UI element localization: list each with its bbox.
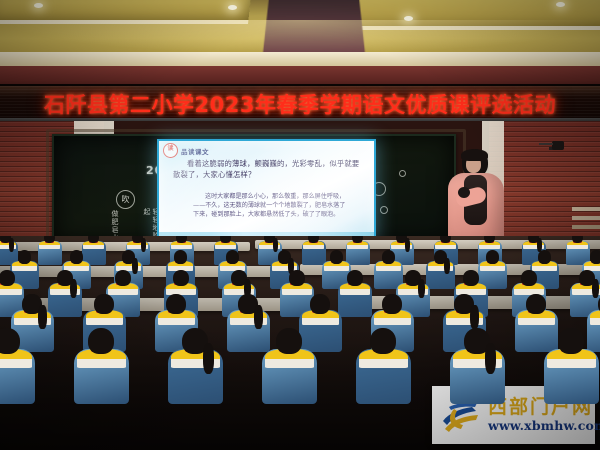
teacher-hair: [461, 149, 488, 161]
student-head: [590, 250, 600, 264]
student-figure: [262, 328, 327, 424]
student-head: [226, 250, 239, 264]
ceiling-light: [228, 5, 237, 10]
student-head: [289, 270, 305, 286]
ceiling-light: [34, 3, 43, 8]
projection-screen: 读 品读课文 看着这脆弱的薄球，颤巍巍的，光彩零乱，似乎就要散裂了，大家心懂怎样…: [157, 139, 376, 241]
student-figure: [74, 328, 139, 424]
student-audience: [0, 236, 600, 450]
student-ponytail: [38, 305, 46, 329]
student-figure: [0, 328, 45, 424]
screenshot-root: 石阡县第二小学2023年春季学期语文优质课评选活动 20 肥皂泡 吹 玩 做肥皂…: [0, 0, 600, 450]
student-ponytail: [70, 279, 77, 298]
chalk-bubble: [399, 170, 406, 177]
student-ponytail: [254, 305, 262, 329]
ceiling: [0, 0, 600, 86]
slide-heading: 品读课文: [181, 146, 209, 156]
student-figure: [544, 328, 600, 424]
student-head: [538, 250, 551, 264]
student-head: [486, 250, 499, 264]
student-head: [174, 250, 187, 264]
ceiling-cove-glow: [0, 20, 600, 54]
blackboard-circle-1: 吹: [116, 190, 135, 209]
slide-stamp-icon: 读: [163, 143, 178, 158]
ceiling-light: [556, 2, 565, 7]
chalk-bubble: [380, 206, 388, 214]
cctv-camera-icon: [552, 141, 564, 150]
student-head: [0, 328, 20, 354]
wall-shelf: [572, 207, 600, 211]
student-head: [521, 270, 537, 286]
student-head: [382, 294, 401, 314]
upper-wall-band: [0, 66, 600, 86]
ceiling-light: [404, 16, 413, 21]
slide-body-text: 看着这脆弱的薄球，颤巍巍的，光彩零乱，似乎就要散裂了，大家心懂怎样？: [173, 158, 361, 180]
student-head: [347, 270, 363, 286]
student-figure: [450, 328, 515, 424]
led-banner-text: 石阡县第二小学2023年春季学期语文优质课评选活动: [0, 89, 600, 119]
student-head: [166, 294, 185, 314]
student-head: [526, 294, 545, 314]
student-uniform-yoke: [590, 310, 600, 325]
student-head: [558, 328, 583, 354]
student-head: [330, 250, 343, 264]
student-head: [0, 270, 15, 286]
student-head: [70, 250, 83, 264]
student-head: [276, 328, 301, 354]
student-head: [370, 328, 395, 354]
student-ponytail: [444, 258, 450, 274]
student-head: [382, 250, 395, 264]
student-head: [310, 294, 329, 314]
student-head: [94, 294, 113, 314]
student-figure: [356, 328, 421, 424]
student-ponytail: [485, 343, 496, 374]
student-ponytail: [203, 343, 214, 374]
student-figure: [168, 328, 233, 424]
student-head: [88, 328, 113, 354]
slide-sub-text: 这时大家都是那么小心，那么敬重，那么屏住呼吸，——不久，这无数的薄球就一个个地散…: [193, 192, 351, 219]
student-head: [115, 270, 131, 286]
student-ponytail: [470, 305, 478, 329]
student-head: [463, 270, 479, 286]
student-head: [173, 270, 189, 286]
teacher-hand-device: [458, 187, 470, 198]
student-head: [18, 250, 31, 264]
